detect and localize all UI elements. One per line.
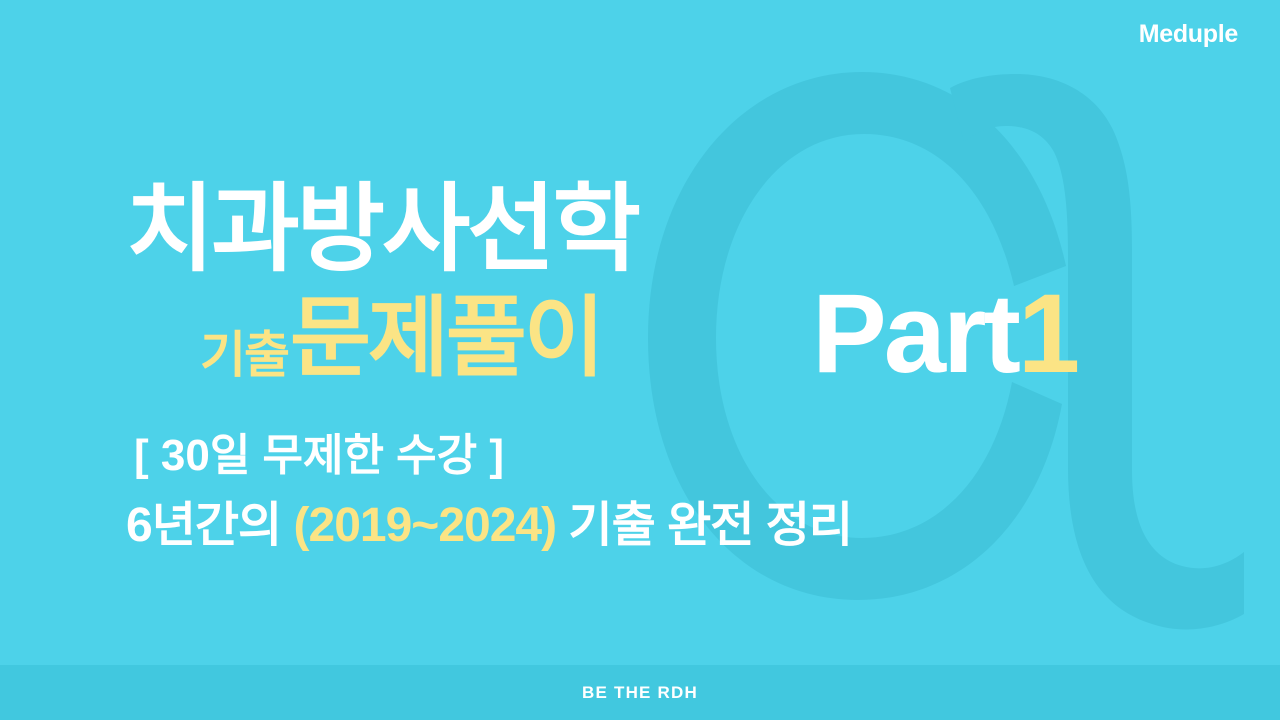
- coverage-note: 6년간의 (2019~2024) 기출 완전 정리: [126, 502, 852, 550]
- footer-band: BE THE RDH: [0, 665, 1280, 720]
- coverage-prefix: 6년간의: [126, 499, 294, 552]
- footer-tagline: BE THE RDH: [582, 683, 698, 703]
- part-label: Part1: [812, 278, 1077, 390]
- subject-heading: 기출 문제풀이: [200, 294, 602, 382]
- course-thumbnail-slide: Meduple 치과방사선학 기출 문제풀이 Part1 [ 30일 무제한 수…: [0, 0, 1280, 720]
- part-word: Part: [812, 271, 1018, 396]
- page-title: 치과방사선학: [126, 178, 638, 282]
- subject-prefix: 기출: [200, 330, 288, 380]
- access-period-note: [ 30일 무제한 수강 ]: [134, 434, 504, 478]
- subject-main: 문제풀이: [290, 294, 602, 382]
- hero-content: 치과방사선학 기출 문제풀이 Part1 [ 30일 무제한 수강 ] 6년간의…: [0, 0, 1280, 665]
- coverage-years: (2019~2024): [294, 499, 557, 552]
- part-number: 1: [1018, 271, 1077, 396]
- coverage-suffix: 기출 완전 정리: [556, 499, 852, 552]
